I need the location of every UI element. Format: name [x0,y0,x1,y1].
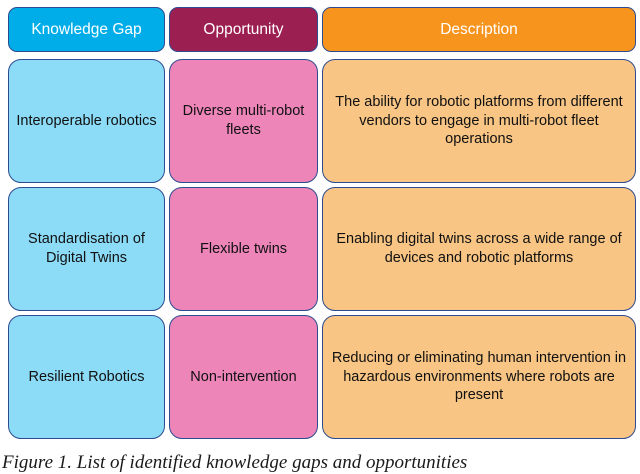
cell-description: Reducing or eliminating human interventi… [323,349,635,405]
table-row: The ability for robotic platforms from d… [322,59,636,183]
table-row: Non-intervention [169,315,318,439]
table-header-opportunity: Opportunity [169,7,318,52]
table-row: Interoperable robotics [8,59,165,183]
table-row: Resilient Robotics [8,315,165,439]
table-row: Flexible twins [169,187,318,311]
cell-description: Enabling digital twins across a wide ran… [323,230,635,267]
knowledge-gap-table: Knowledge Gap Opportunity Description In… [0,0,640,446]
table-header-opportunity-label: Opportunity [170,20,317,40]
figure-caption: Figure 1. List of identified knowledge g… [0,452,640,474]
cell-knowledge-gap: Resilient Robotics [9,368,164,387]
table-row: Diverse multi-robot fleets [169,59,318,183]
cell-opportunity: Flexible twins [170,240,317,259]
cell-opportunity: Diverse multi-robot fleets [170,102,317,139]
table-row: Enabling digital twins across a wide ran… [322,187,636,311]
table-header-knowledge-gap-label: Knowledge Gap [9,20,164,40]
cell-description: The ability for robotic platforms from d… [323,93,635,149]
cell-opportunity: Non-intervention [170,368,317,387]
table-header-knowledge-gap: Knowledge Gap [8,7,165,52]
cell-knowledge-gap: Interoperable robotics [9,112,164,131]
table-row: Standardisation of Digital Twins [8,187,165,311]
table-header-description-label: Description [323,20,635,40]
cell-knowledge-gap: Standardisation of Digital Twins [9,230,164,267]
figure-container: Knowledge Gap Opportunity Description In… [0,0,640,474]
table-header-description: Description [322,7,636,52]
table-row: Reducing or eliminating human interventi… [322,315,636,439]
